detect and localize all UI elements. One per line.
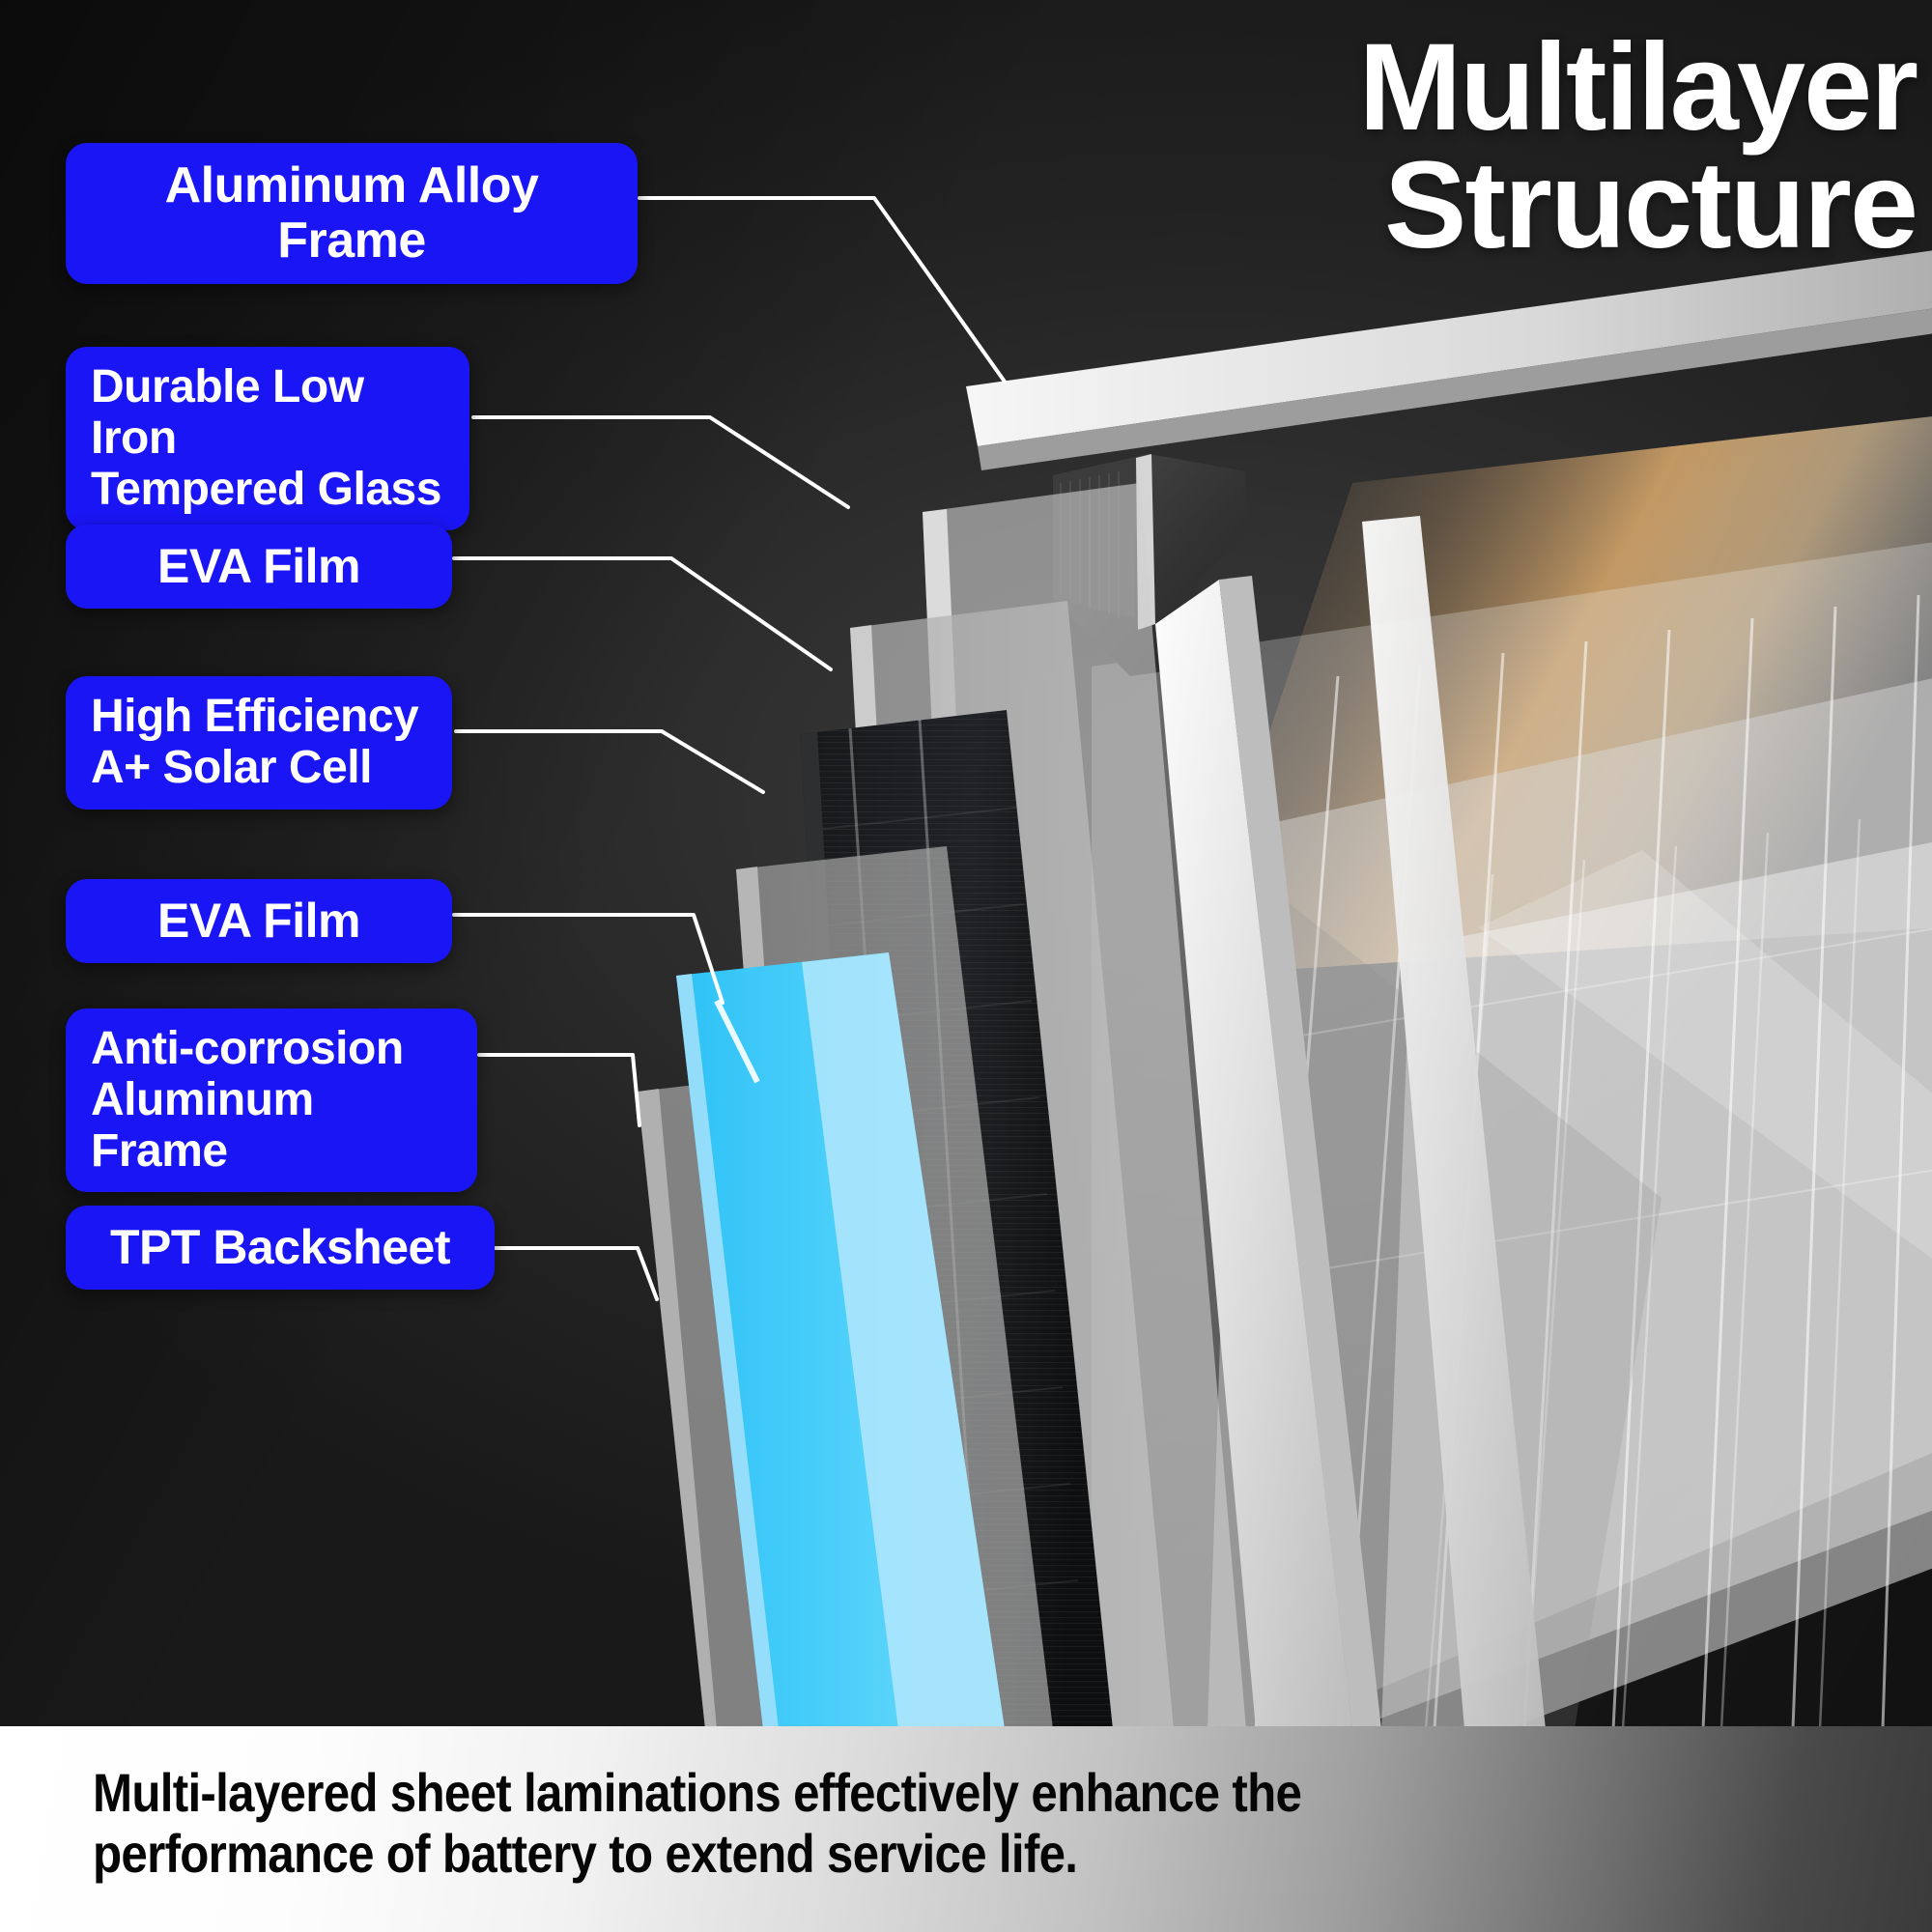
callout-aluminum-alloy-frame[interactable]: Aluminum Alloy Frame [66, 143, 638, 284]
caption-band: Multi-layered sheet laminations effectiv… [0, 1726, 1932, 1932]
page-title: Multilayer Structure [1047, 29, 1917, 264]
leader-high-efficiency-solar-cell [456, 731, 763, 792]
callout-high-efficiency-solar-cell[interactable]: High Efficiency A+ Solar Cell [66, 676, 452, 810]
leader-eva-film-top [454, 558, 831, 669]
solar-panel-exploded-diagram [0, 0, 1932, 1932]
leader-durable-low-iron-glass [473, 417, 848, 507]
leader-tpt-backsheet [495, 1248, 657, 1299]
leader-aluminum-alloy-frame [639, 198, 1005, 382]
callout-tpt-backsheet[interactable]: TPT Backsheet [66, 1206, 495, 1290]
leader-anti-corrosion-frame [479, 1055, 639, 1125]
callout-eva-film-bottom[interactable]: EVA Film [66, 879, 452, 963]
caption-text: Multi-layered sheet laminations effectiv… [93, 1763, 1648, 1884]
title-line-2: Structure [1047, 147, 1917, 265]
callout-durable-low-iron-glass[interactable]: Durable Low Iron Tempered Glass [66, 347, 469, 530]
infographic-canvas: Multilayer Structure Aluminum Alloy Fram… [0, 0, 1932, 1932]
caption-line-1: Multi-layered sheet laminations effectiv… [93, 1763, 1648, 1824]
callout-anti-corrosion-frame[interactable]: Anti-corrosion Aluminum Frame [66, 1009, 477, 1192]
caption-line-2: performance of battery to extend service… [93, 1824, 1648, 1885]
callout-eva-film-top[interactable]: EVA Film [66, 525, 452, 609]
